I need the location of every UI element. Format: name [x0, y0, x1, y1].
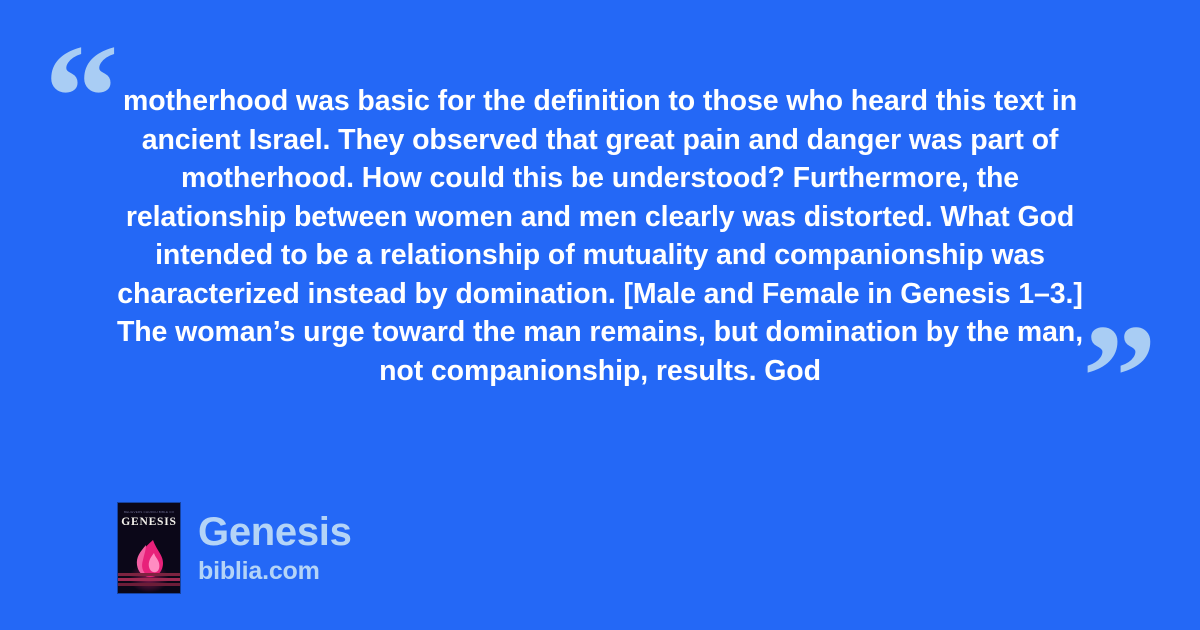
quote-text: motherhood was basic for the definition … — [108, 82, 1092, 390]
book-cover-band — [118, 583, 180, 586]
book-cover-series-line: BELIEVERS CHURCH BIBLE COMMENTARY — [124, 510, 174, 514]
quote-card: “ motherhood was basic for the definitio… — [0, 0, 1200, 630]
book-cover-title: GENESIS — [118, 516, 180, 528]
attribution-site: biblia.com — [198, 556, 352, 586]
close-quote-icon: ” — [1082, 302, 1157, 452]
attribution-book-title: Genesis — [198, 510, 352, 554]
book-cover-band — [118, 578, 180, 581]
attribution: BELIEVERS CHURCH BIBLE COMMENTARY GENESI… — [118, 503, 352, 593]
attribution-text: Genesis biblia.com — [198, 510, 352, 586]
book-cover-thumbnail: BELIEVERS CHURCH BIBLE COMMENTARY GENESI… — [118, 503, 180, 593]
book-cover-band — [118, 573, 180, 576]
